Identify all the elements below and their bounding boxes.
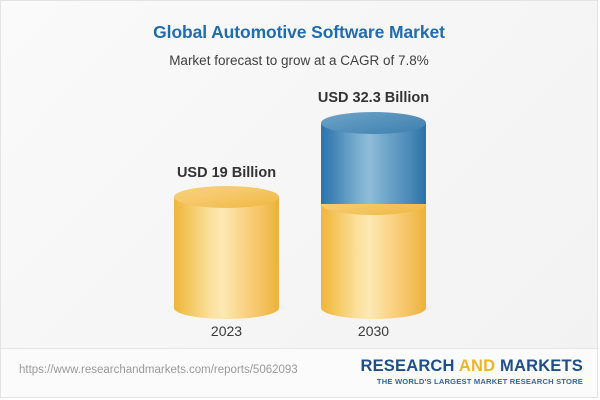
- logo-word-research: RESEARCH: [360, 357, 454, 375]
- plot-area: USD 19 Billion 2023 USD 32.3 Billion: [1, 1, 598, 351]
- source-url[interactable]: https://www.researchandmarkets.com/repor…: [19, 364, 298, 376]
- cylinder-2030[interactable]: [321, 123, 426, 308]
- segment-base-2023: [174, 197, 279, 308]
- brand-logo[interactable]: RESEARCH AND MARKETS THE WORLD'S LARGEST…: [360, 357, 583, 386]
- cylinder-2023[interactable]: [174, 197, 279, 308]
- segment-base-2030: [321, 204, 426, 308]
- bar-group-2030: USD 32.3 Billion 2030: [321, 123, 426, 308]
- segment-growth-2030: [321, 123, 426, 204]
- category-label-2030: 2030: [358, 323, 389, 339]
- value-label-2023: USD 19 Billion: [177, 165, 276, 181]
- logo-tagline: THE WORLD'S LARGEST MARKET RESEARCH STOR…: [360, 377, 583, 386]
- logo-word-markets: MARKETS: [500, 357, 583, 375]
- value-label-2030: USD 32.3 Billion: [318, 90, 429, 106]
- bar-group-2023: USD 19 Billion 2023: [174, 197, 279, 308]
- logo-wordmark: RESEARCH AND MARKETS: [360, 357, 583, 376]
- cylinder-body: [174, 197, 279, 308]
- chart-card: Global Automotive Software Market Market…: [0, 0, 598, 398]
- cylinder-top-cap: [321, 112, 426, 134]
- cylinder-body: [321, 123, 426, 204]
- logo-word-and: AND: [459, 357, 495, 375]
- category-label-2023: 2023: [211, 323, 242, 339]
- cylinder-top-cap: [174, 186, 279, 208]
- footer: https://www.researchandmarkets.com/repor…: [1, 348, 598, 397]
- cylinder-body: [321, 204, 426, 308]
